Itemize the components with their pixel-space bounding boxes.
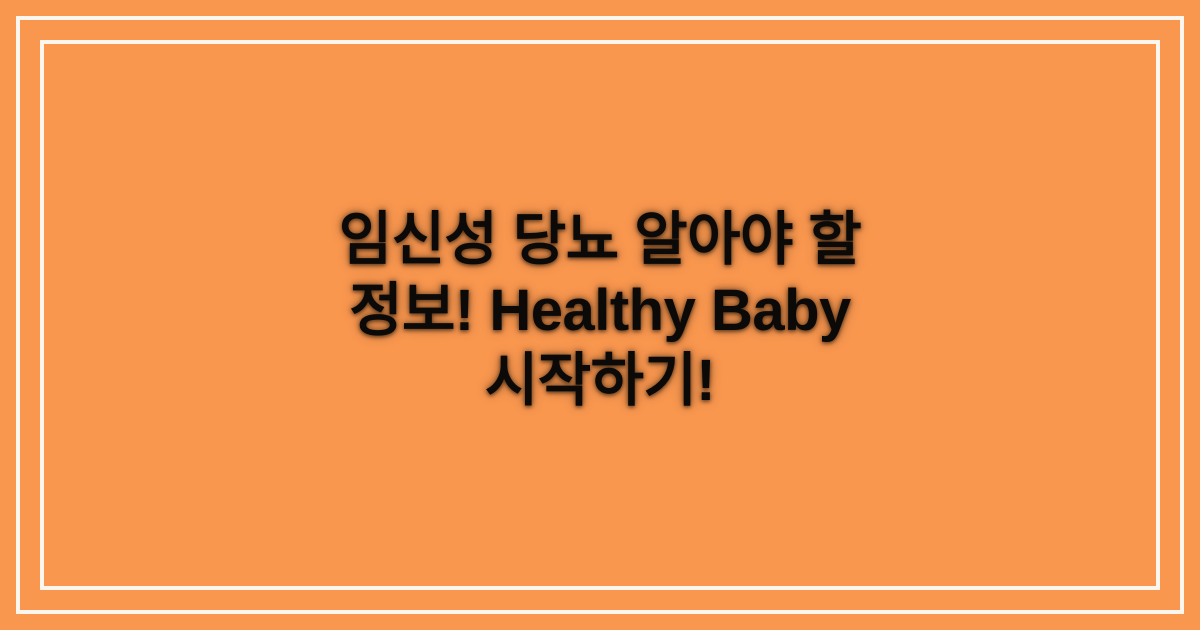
banner-title: 임신성 당뇨 알아야 할 정보! Healthy Baby 시작하기! (280, 205, 920, 417)
banner-card: 임신성 당뇨 알아야 할 정보! Healthy Baby 시작하기! (0, 0, 1200, 630)
title-container: 임신성 당뇨 알아야 할 정보! Healthy Baby 시작하기! (270, 205, 930, 417)
